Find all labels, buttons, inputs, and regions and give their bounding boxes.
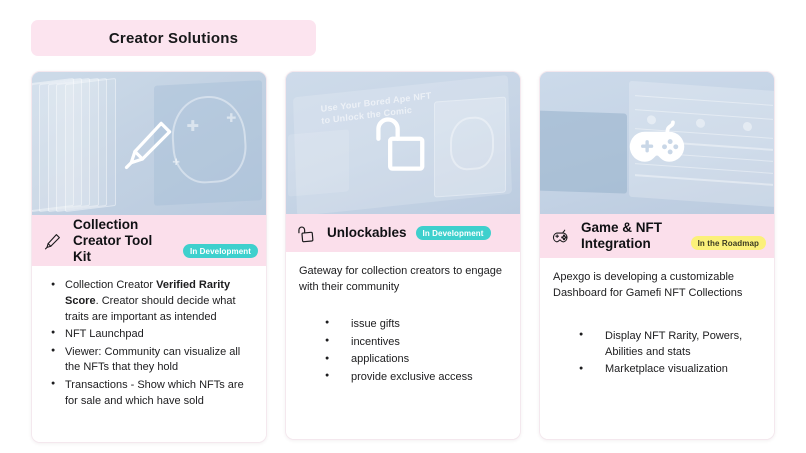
card-hero-image-2: Use Your Bored Ape NFT to Unlock the Com… (286, 72, 520, 214)
card-hero-image-3 (540, 72, 774, 214)
feature-list-1: Collection Creator Verified Rarity Score… (45, 278, 253, 409)
card-body-2: Gateway for collection creators to engag… (286, 252, 520, 439)
game-controller-icon (550, 225, 572, 247)
feature-list-3: Display NFT Rarity, Powers, Abilities an… (553, 329, 761, 378)
pen-icon (42, 230, 64, 252)
list-item: provide exclusive access (299, 370, 507, 386)
card-hero-image-1: ✚ ✚ ✚ (32, 72, 266, 215)
list-item: Display NFT Rarity, Powers, Abilities an… (553, 329, 761, 360)
card-intro-3: Apexgo is developing a customizable Dash… (553, 270, 761, 301)
card-game-nft-integration[interactable]: Game & NFT Integration In the Roadmap Ap… (539, 71, 775, 440)
card-grid: ✚ ✚ ✚ (31, 71, 775, 443)
feature-list-2: issue gifts incentives applications prov… (299, 317, 507, 385)
list-item: Collection Creator Verified Rarity Score… (45, 278, 253, 325)
padlock-icon (296, 222, 318, 244)
section-banner: Creator Solutions (31, 20, 316, 56)
game-controller-icon (626, 114, 688, 172)
open-padlock-icon (374, 112, 432, 174)
card-body-1: Collection Creator Verified Rarity Score… (32, 266, 266, 442)
card-title-2: Unlockables (327, 225, 407, 241)
status-badge-2: In Development (416, 226, 491, 240)
card-title-3: Game & NFT Integration (581, 220, 680, 252)
card-header-2: Unlockables In Development (286, 214, 520, 252)
status-badge-3: In the Roadmap (691, 236, 766, 250)
card-unlockables[interactable]: Use Your Bored Ape NFT to Unlock the Com… (285, 71, 521, 440)
card-header-1: Collection Creator Tool Kit In Developme… (32, 215, 266, 266)
card-header-3: Game & NFT Integration In the Roadmap (540, 214, 774, 258)
list-item: incentives (299, 335, 507, 351)
list-item: Marketplace visualization (553, 362, 761, 378)
card-body-3: Apexgo is developing a customizable Dash… (540, 258, 774, 439)
list-item: issue gifts (299, 317, 507, 333)
card-title-1: Collection Creator Tool Kit (73, 217, 172, 264)
card-intro-2: Gateway for collection creators to engag… (299, 264, 507, 295)
status-badge-1: In Development (183, 244, 258, 258)
pencil-icon (119, 114, 179, 174)
list-item: applications (299, 352, 507, 368)
page-title: Creator Solutions (109, 30, 238, 47)
list-item: Viewer: Community can visualize all the … (45, 345, 253, 376)
list-item: NFT Launchpad (45, 327, 253, 343)
list-item: Transactions - Show which NFTs are for s… (45, 378, 253, 409)
card-collection-creator-tool-kit[interactable]: ✚ ✚ ✚ (31, 71, 267, 443)
page-root: Creator Solutions ✚ ✚ ✚ (0, 0, 806, 453)
